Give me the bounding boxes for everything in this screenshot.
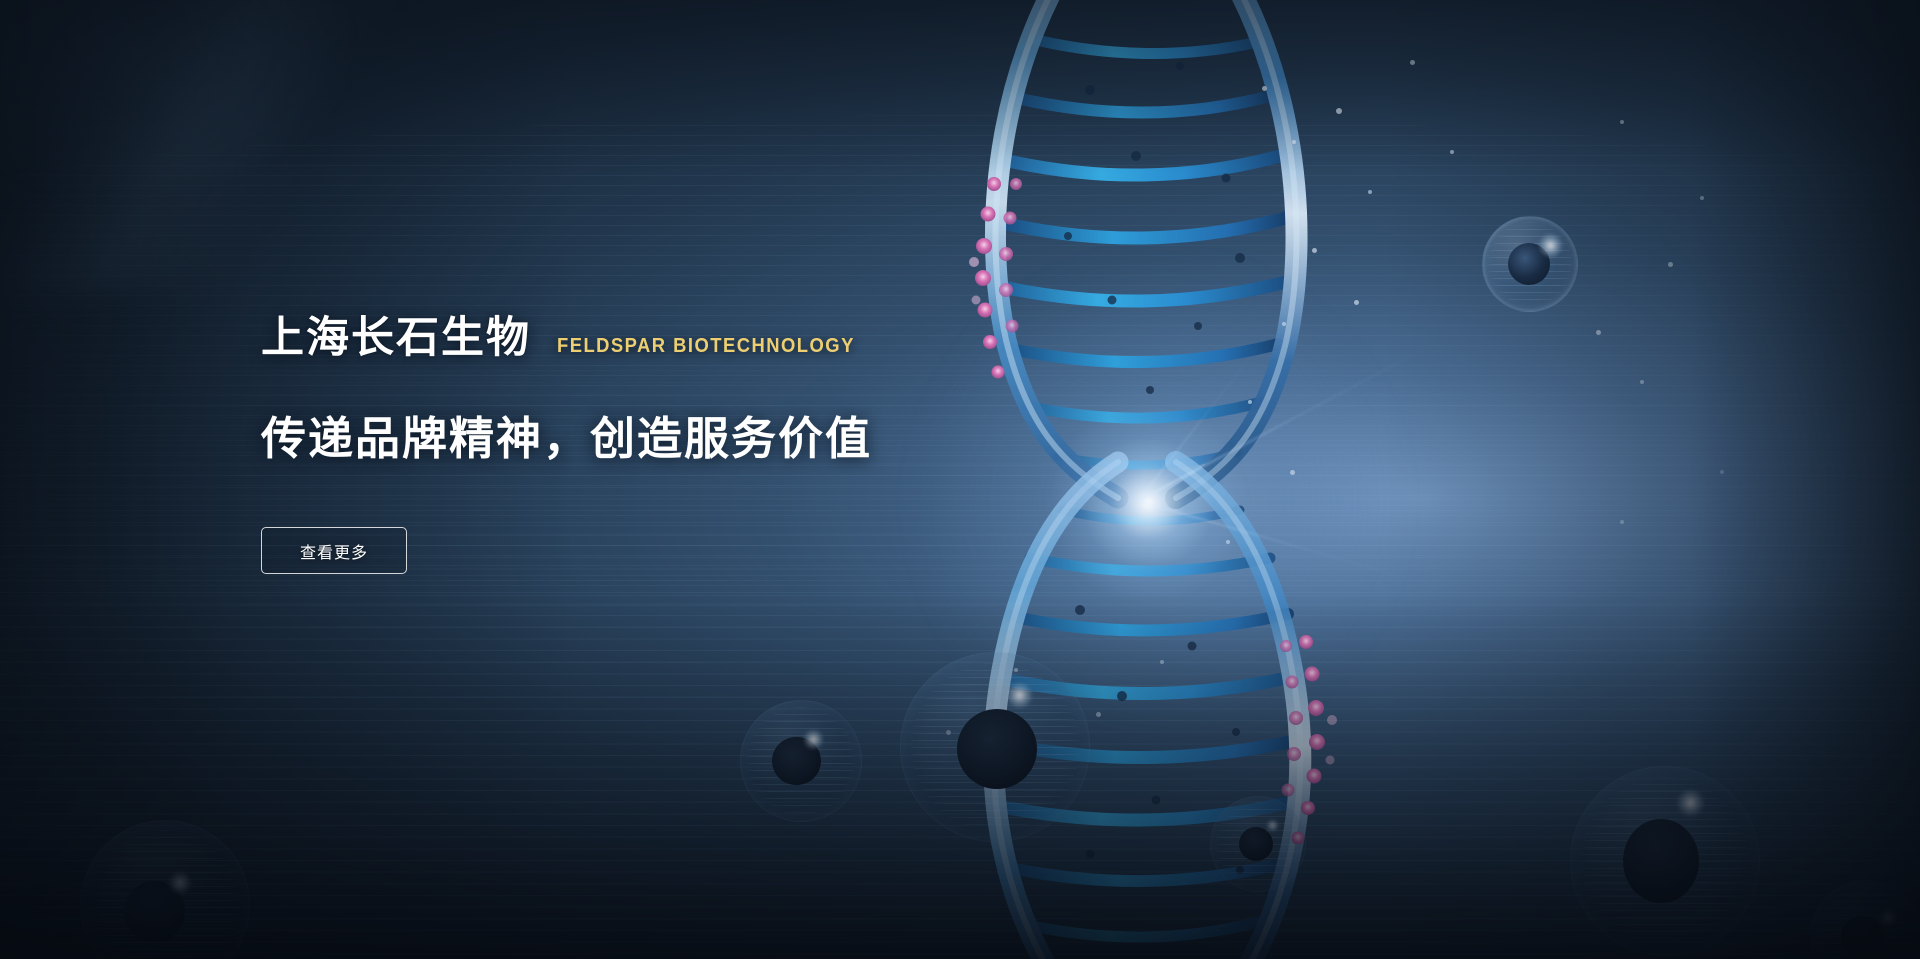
hero-content: 上海长石生物 FELDSPAR BIOTECHNOLOGY 传递品牌精神，创造服… (261, 300, 1161, 574)
brand-title-row: 上海长石生物 FELDSPAR BIOTECHNOLOGY (261, 300, 1161, 360)
brand-name-english: FELDSPAR BIOTECHNOLOGY (557, 336, 855, 360)
brand-name-chinese: 上海长石生物 (261, 317, 531, 360)
view-more-button[interactable]: 查看更多 (261, 527, 407, 574)
hero-slogan: 传递品牌精神，创造服务价值 (261, 416, 1161, 461)
hero-banner: 上海长石生物 FELDSPAR BIOTECHNOLOGY 传递品牌精神，创造服… (0, 0, 1920, 959)
